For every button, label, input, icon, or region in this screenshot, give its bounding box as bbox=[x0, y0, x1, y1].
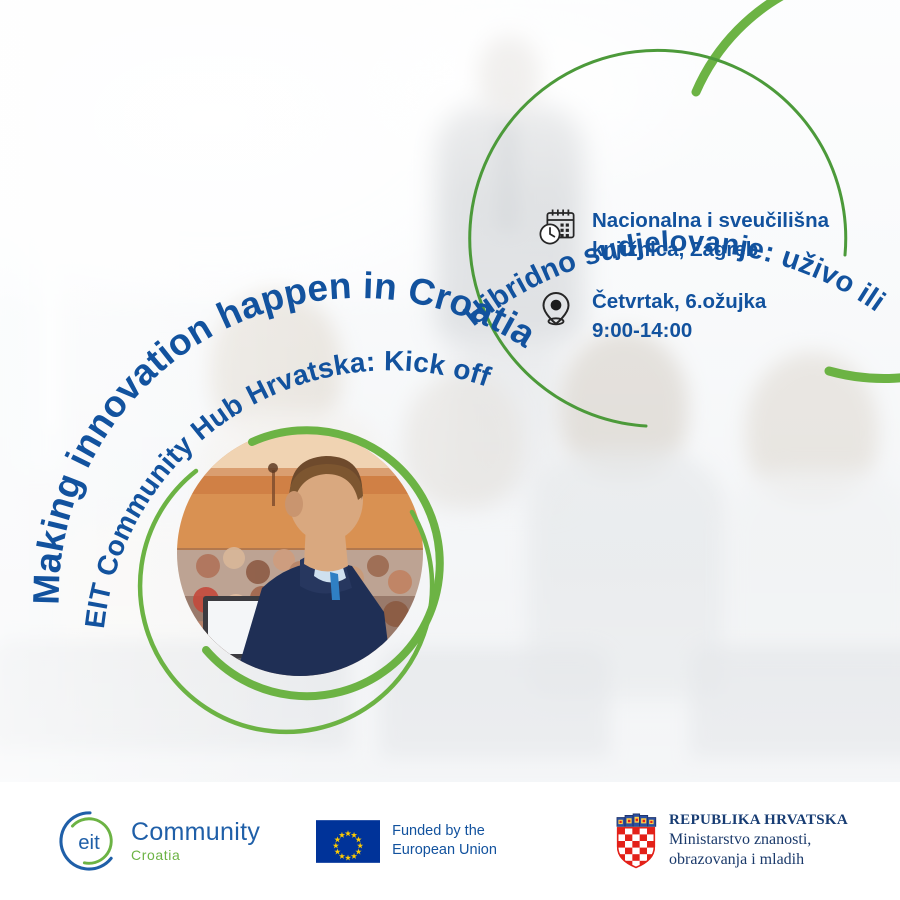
eit-croatia-label: Croatia bbox=[131, 848, 260, 862]
ministry-name-label: Ministarstvo znanosti, obrazovanja i mla… bbox=[669, 830, 848, 870]
european-union-flag-icon bbox=[316, 820, 380, 863]
ministry-country-label: REPUBLIKA HRVATSKA bbox=[669, 812, 848, 829]
speaker-photo-circle bbox=[140, 430, 440, 732]
svg-text:eit: eit bbox=[78, 832, 100, 854]
datetime-row: Četvrtak, 6.ožujka 9:00-14:00 bbox=[536, 286, 846, 345]
eit-community-label: Community bbox=[131, 818, 260, 846]
croatia-ministry-logo: REPUBLIKA HRVATSKA Ministarstvo znanosti… bbox=[614, 812, 848, 870]
eu-funding-logo: Funded by the European Union bbox=[316, 820, 497, 863]
eit-circle-logo-icon: eit bbox=[58, 810, 120, 872]
graphic-overlay: Making innovation happen in Croatia! EIT… bbox=[0, 0, 900, 900]
location-pin-icon bbox=[536, 286, 578, 330]
venue-row: Nacionalna i sveučilišna knjižnica, Zagr… bbox=[536, 205, 846, 264]
eit-community-croatia-logo: eit Community Croatia bbox=[58, 810, 260, 872]
calendar-clock-icon bbox=[536, 205, 578, 249]
event-poster: Making innovation happen in Croatia! EIT… bbox=[0, 0, 900, 900]
datetime-text: Četvrtak, 6.ožujka 9:00-14:00 bbox=[592, 286, 766, 345]
eu-funding-text: Funded by the European Union bbox=[392, 822, 497, 860]
venue-text: Nacionalna i sveučilišna knjižnica, Zagr… bbox=[592, 205, 829, 264]
croatian-coat-of-arms-icon bbox=[614, 813, 658, 869]
footer-logos-bar: eit Community Croatia bbox=[0, 782, 900, 900]
event-details-block: Nacionalna i sveučilišna knjižnica, Zagr… bbox=[536, 205, 846, 367]
